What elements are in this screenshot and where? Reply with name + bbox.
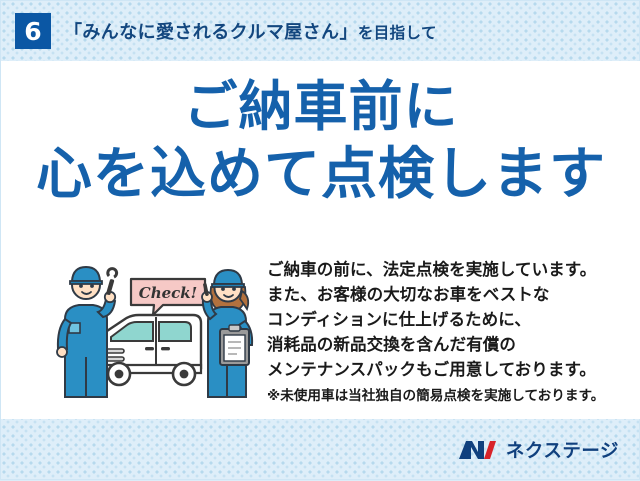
header-bar: 6 「みんなに愛されるクルマ屋さん」を目指して — [1, 1, 640, 61]
mechanic-right — [202, 270, 252, 397]
content-panel: ご納車前に 心を込めて点検します — [1, 61, 640, 419]
clipboard-icon — [220, 325, 249, 365]
check-speech-bubble: Check! — [131, 279, 205, 315]
header-title-tail: を目指して — [358, 25, 437, 42]
nextage-n-logo-icon — [457, 437, 497, 463]
headline-group: ご納車前に 心を込めて点検します — [1, 79, 640, 204]
section-number-text: 6 — [24, 19, 41, 44]
mechanic-left — [57, 267, 117, 397]
body-line: また、お客様の大切なお車をベストな — [267, 283, 617, 308]
headline-primary: ご納車前に — [1, 79, 640, 136]
check-bubble-text: Check! — [139, 284, 198, 302]
mechanics-illustration: Check! — [53, 257, 261, 405]
body-line: 消耗品の新品交換を含んだ有償の — [267, 333, 617, 358]
header-title: 「みんなに愛されるクルマ屋さん」を目指して — [64, 18, 437, 44]
body-line: メンテナンスパックもご用意しております。 — [267, 358, 617, 383]
van-graphic — [97, 315, 201, 385]
brand-logo: ネクステージ — [457, 437, 619, 463]
header-title-main: 「みんなに愛されるクルマ屋さん」 — [64, 22, 358, 42]
advertisement-page: 6 「みんなに愛されるクルマ屋さん」を目指して ご納車前に 心を込めて点検します — [0, 0, 640, 480]
section-number-badge: 6 — [15, 13, 51, 49]
body-note: ※未使用車は当社独自の簡易点検を実施しております。 — [267, 385, 617, 407]
footer-bar: ネクステージ — [1, 419, 640, 481]
body-line: コンディションに仕上げるために、 — [267, 308, 617, 333]
headline-secondary: 心を込めて点検します — [1, 144, 640, 203]
body-copy: ご納車の前に、法定点検を実施しています。 また、お客様の大切なお車をベストな コ… — [267, 258, 617, 407]
brand-name: ネクステージ — [506, 437, 619, 463]
body-line: ご納車の前に、法定点検を実施しています。 — [267, 258, 617, 283]
